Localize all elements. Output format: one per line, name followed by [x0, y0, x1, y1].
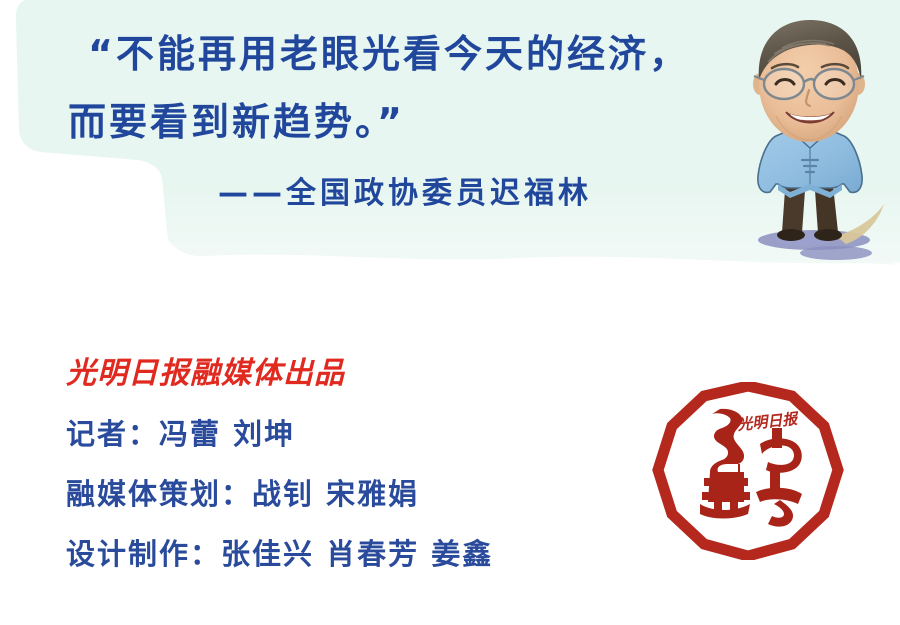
quote-line-1: “不能再用老眼光看今天的经济， [88, 32, 690, 76]
speaker-cartoon-figure [718, 8, 898, 278]
quote-attribution: ——全国政协委员迟福林 [218, 168, 592, 212]
quote-block: “不能再用老眼光看今天的经济， 而要看到新趋势。” ——全国政协委员迟福林 [0, 0, 760, 230]
poster-canvas: “不能再用老眼光看今天的经济， 而要看到新趋势。” ——全国政协委员迟福林 [0, 0, 900, 625]
quote-line-2: 而要看到新趋势。” [68, 100, 405, 144]
credit-line-reporters: 记者：冯蕾 刘坤 [66, 404, 626, 464]
seal-border [658, 386, 838, 556]
cartoon-figure-svg [718, 8, 898, 278]
seal-brand-label: 光明日报 [736, 410, 801, 434]
figure-head [753, 20, 865, 142]
credits-block: 光明日报融媒体出品 记者：冯蕾 刘坤 融媒体策划：战钊 宋雅娟 设计制作：张佳兴… [66, 344, 626, 584]
credit-line-planning: 融媒体策划：战钊 宋雅娟 [66, 464, 626, 524]
credit-brand-line: 光明日报融媒体出品 [66, 344, 626, 404]
seal-svg: 光明日报 [652, 382, 844, 560]
guangming-daily-seal: 光明日报 [652, 382, 844, 560]
seal-brand-text: 光明日报 [736, 410, 801, 434]
credit-line-design: 设计制作：张佳兴 肖春芳 姜鑫 [66, 524, 626, 584]
